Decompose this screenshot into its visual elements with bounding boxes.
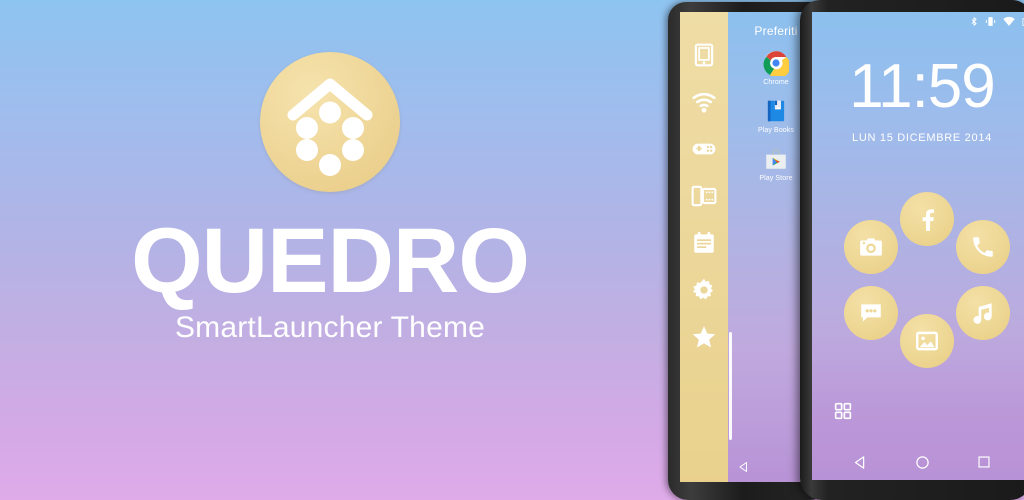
lockscreen-clock: 11:59 — [812, 56, 1024, 118]
phone-navbar — [812, 444, 1024, 480]
multi-device-icon[interactable] — [691, 183, 717, 209]
gallery-icon[interactable] — [914, 328, 940, 354]
messages-icon[interactable] — [858, 300, 884, 326]
music-icon[interactable] — [970, 300, 996, 326]
gamepad-icon[interactable] — [691, 136, 717, 162]
ring-app-facebook[interactable] — [900, 192, 954, 246]
tablet-device-icon[interactable] — [691, 42, 717, 68]
bluetooth-icon — [969, 15, 979, 28]
notepad-icon[interactable] — [691, 230, 717, 256]
back-triangle-icon[interactable] — [853, 455, 868, 470]
app-drawer-button[interactable] — [834, 402, 852, 425]
lockscreen-date: LUN 15 DICEMBRE 2014 — [812, 132, 1024, 144]
quedro-logo — [260, 52, 400, 192]
page-title: QUEDRO — [131, 218, 529, 305]
phone-icon[interactable] — [970, 234, 996, 260]
facebook-icon[interactable] — [914, 206, 940, 232]
ring-app-camera[interactable] — [844, 220, 898, 274]
ring-app-phone[interactable] — [956, 220, 1010, 274]
app-label: Chrome — [763, 79, 789, 86]
ring-app-gallery[interactable] — [900, 314, 954, 368]
page-subtitle: SmartLauncher Theme — [175, 311, 485, 345]
app-drawer-grid-icon[interactable] — [834, 402, 852, 420]
phone-statusbar — [969, 15, 1024, 28]
ring-app-music[interactable] — [956, 286, 1010, 340]
play-store-icon[interactable] — [763, 146, 789, 172]
camera-icon[interactable] — [858, 234, 884, 260]
branding-panel: QUEDRO SmartLauncher Theme — [0, 0, 660, 500]
tablet-sidebar[interactable] — [680, 12, 728, 482]
play-books-icon[interactable] — [763, 98, 789, 124]
app-ring — [812, 192, 1024, 392]
back-triangle-icon[interactable] — [738, 461, 750, 473]
vibrate-icon — [984, 15, 997, 28]
phone-device-mockup: 11:59 LUN 15 DICEMBRE 2014 — [800, 0, 1024, 500]
ring-app-messages[interactable] — [844, 286, 898, 340]
app-label: Play Books — [758, 127, 794, 134]
wifi-icon[interactable] — [691, 89, 717, 115]
phone-screen: 11:59 LUN 15 DICEMBRE 2014 — [812, 12, 1024, 480]
smartlauncher-home-logo-icon — [260, 52, 400, 192]
recents-square-icon[interactable] — [977, 455, 991, 469]
app-label: Play Store — [759, 175, 792, 182]
scrollbar[interactable] — [729, 332, 732, 440]
star-icon[interactable] — [691, 324, 717, 350]
home-circle-icon[interactable] — [915, 455, 930, 470]
section-title-preferiti: Preferiti — [754, 24, 797, 38]
wifi-icon — [1002, 15, 1016, 28]
gear-icon[interactable] — [691, 277, 717, 303]
chrome-icon[interactable] — [763, 50, 789, 76]
